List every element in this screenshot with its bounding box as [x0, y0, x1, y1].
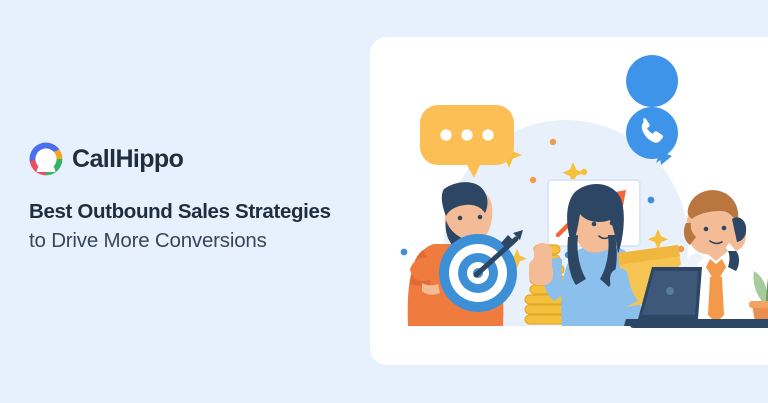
- sales-team-illustration: [370, 37, 768, 365]
- illustration-card: [370, 37, 768, 365]
- callhippo-logo-icon: [29, 142, 63, 176]
- brand-name: CallHippo: [72, 147, 183, 172]
- page-title: Best Outbound Sales Strategies: [29, 198, 369, 225]
- phone-call-bubble-icon: [626, 55, 678, 165]
- page-subtitle: to Drive More Conversions: [29, 227, 369, 254]
- blog-banner: CallHippo Best Outbound Sales Strategies…: [0, 0, 768, 403]
- brand-lockup: CallHippo: [29, 142, 369, 176]
- text-column: CallHippo Best Outbound Sales Strategies…: [29, 142, 369, 254]
